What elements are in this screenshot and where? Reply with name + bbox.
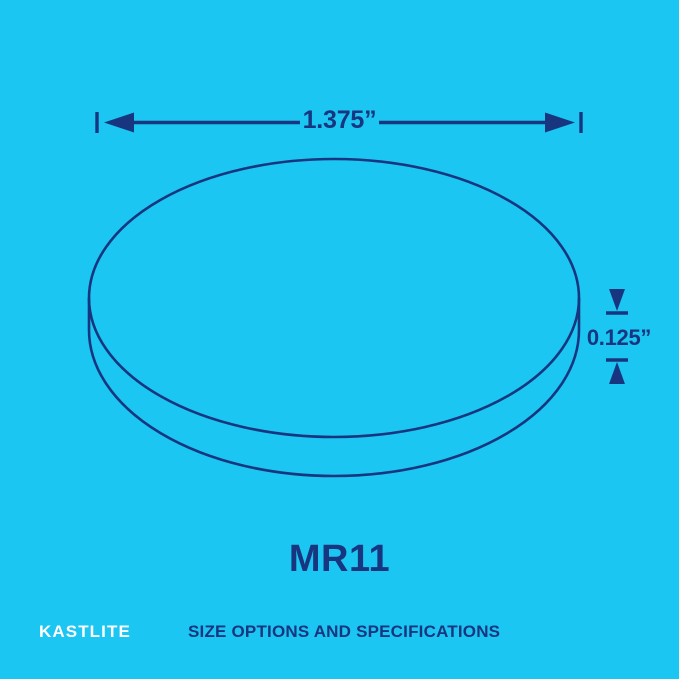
brand-logo: KASTLITE	[39, 622, 131, 642]
width-dimension-label: 1.375”	[0, 106, 679, 135]
disc-top-face	[89, 159, 579, 437]
thickness-bottom-arrowhead-icon	[609, 362, 625, 384]
thickness-dimension-label: 0.125”	[578, 325, 660, 351]
product-spec-canvas: 1.375” 0.125” MR11 KASTLITE SIZE OPTIONS…	[0, 0, 679, 679]
disc-bottom-edge	[89, 330, 579, 476]
thickness-top-arrowhead-icon	[609, 289, 625, 311]
part-title: MR11	[0, 538, 679, 581]
disc-body-group	[89, 159, 579, 476]
footer-caption: SIZE OPTIONS AND SPECIFICATIONS	[188, 622, 500, 642]
